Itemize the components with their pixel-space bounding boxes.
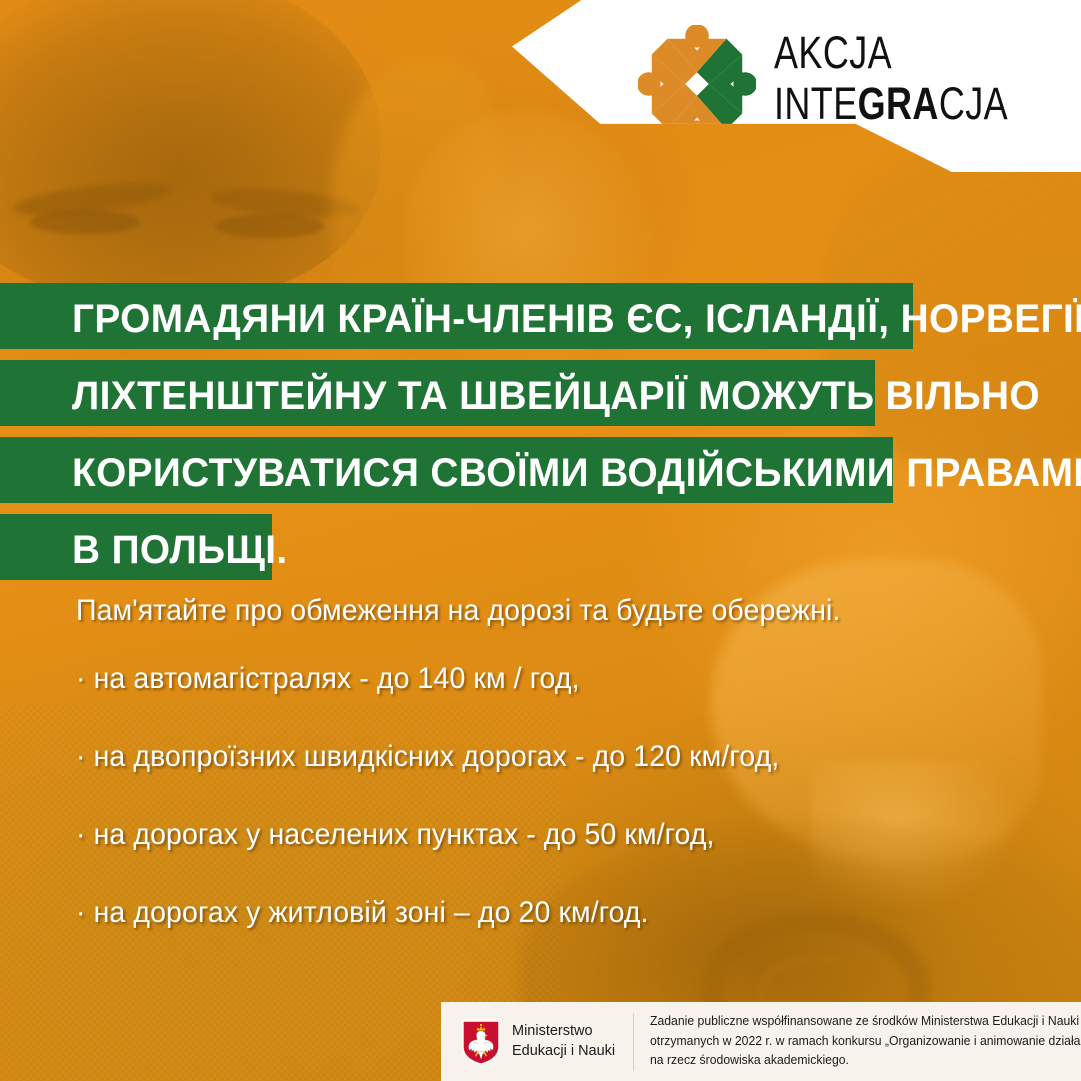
poster-root: AKCJA INTEGRACJA ГРОМАДЯНИ КРАЇН-ЧЛЕНІВ … xyxy=(0,0,1081,1081)
funding-note-line-1: Zadanie publiczne współfinansowane ze śr… xyxy=(650,1012,1081,1032)
footer-divider xyxy=(633,1013,634,1071)
footer-funding-bar: Ministerstwo Edukacji i Nauki Zadanie pu… xyxy=(441,1002,1081,1081)
funding-note-line-2: otrzymanych w 2022 r. w ramach konkursu … xyxy=(650,1032,1081,1052)
body-copy-block: Пам'ятайте про обмеження на дорозі та бу… xyxy=(76,596,976,928)
headline-bar-2: ЛІХТЕНШТЕЙНУ ТА ШВЕЙЦАРІЇ МОЖУТЬ ВІЛЬНО xyxy=(0,360,875,426)
ministry-line-1: Ministerstwo xyxy=(512,1022,615,1041)
headline-block: ГРОМАДЯНИ КРАЇН-ЧЛЕНІВ ЄС, ІСЛАНДІЇ, НОР… xyxy=(0,283,1081,580)
speed-limit-list: · на автомагістралях - до 140 км / год, … xyxy=(76,664,976,928)
list-item: · на дорогах у житловій зоні – до 20 км/… xyxy=(76,898,931,928)
ministry-name: Ministerstwo Edukacji i Nauki xyxy=(512,1022,615,1060)
headline-text-4: В ПОЛЬЩІ. xyxy=(72,530,288,570)
funding-note: Zadanie publiczne współfinansowane ze śr… xyxy=(650,1012,1081,1071)
brand-gra: GRA xyxy=(858,78,939,129)
headline-text-2: ЛІХТЕНШТЕЙНУ ТА ШВЕЙЦАРІЇ МОЖУТЬ ВІЛЬНО xyxy=(72,376,1040,416)
headline-bar-1: ГРОМАДЯНИ КРАЇН-ЧЛЕНІВ ЄС, ІСЛАНДІЇ, НОР… xyxy=(0,283,913,349)
list-item: · на автомагістралях - до 140 км / год, xyxy=(76,664,931,694)
headline-text-1: ГРОМАДЯНИ КРАЇН-ЧЛЕНІВ ЄС, ІСЛАНДІЇ, НОР… xyxy=(72,299,1081,339)
list-item: · на двопроїзних швидкісних дорогах - до… xyxy=(76,742,931,772)
polish-eagle-coat-of-arms-icon xyxy=(461,1019,501,1065)
ministry-line-2: Edukacji i Nauki xyxy=(512,1042,615,1061)
list-item: · на дорогах у населених пунктах - до 50… xyxy=(76,820,931,850)
headline-bar-4: В ПОЛЬЩІ. xyxy=(0,514,272,580)
funding-note-line-3: na rzecz środowiska akademickiego. xyxy=(650,1051,1081,1071)
brand-inte: INTE xyxy=(774,78,858,129)
headline-bar-3: КОРИСТУВАТИСЯ СВОЇМИ ВОДІЙСЬКИМИ ПРАВАМИ xyxy=(0,437,893,503)
brand-line-integracja: INTEGRACJA xyxy=(774,81,1008,126)
headline-row-4: В ПОЛЬЩІ. xyxy=(0,503,1081,580)
headline-text-3: КОРИСТУВАТИСЯ СВОЇМИ ВОДІЙСЬКИМИ ПРАВАМИ xyxy=(72,453,1081,493)
brand-cja: CJA xyxy=(939,78,1008,129)
brand-wordmark: AKCJA INTEGRACJA xyxy=(774,30,1067,126)
brand-line-akcja: AKCJA xyxy=(774,30,1008,75)
headline-row-3: КОРИСТУВАТИСЯ СВОЇМИ ВОДІЙСЬКИМИ ПРАВАМИ xyxy=(0,426,1081,503)
headline-row-2: ЛІХТЕНШТЕЙНУ ТА ШВЕЙЦАРІЇ МОЖУТЬ ВІЛЬНО xyxy=(0,349,1081,426)
body-intro-text: Пам'ятайте про обмеження на дорозі та бу… xyxy=(76,596,931,626)
headline-row-1: ГРОМАДЯНИ КРАЇН-ЧЛЕНІВ ЄС, ІСЛАНДІЇ, НОР… xyxy=(0,283,1081,349)
